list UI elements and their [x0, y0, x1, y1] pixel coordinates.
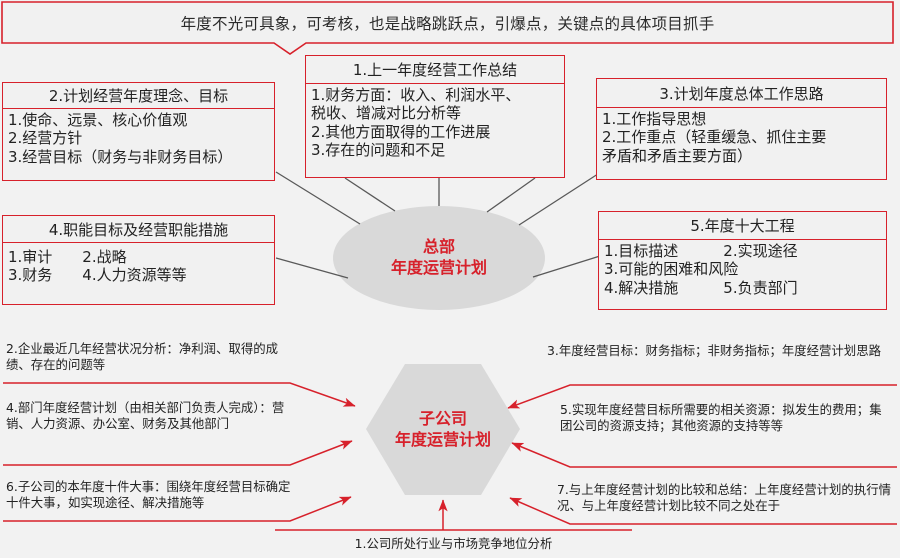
box-1-line: 1.财务方面：收入、利润水平、 — [311, 86, 559, 104]
box-1-body: 1.财务方面：收入、利润水平、 税收、增减对比分析等 2.其他方面取得的工作进展… — [306, 84, 564, 160]
box-4-line: 3.财务 4.人力资源等等 — [8, 266, 269, 284]
box-4-line: 1.审计 2.战略 — [8, 248, 269, 266]
box-3-header: 3.计划年度总体工作思路 — [597, 79, 886, 108]
subsidiary-node-label[interactable]: 子公司 年度运营计划 — [366, 364, 520, 495]
box-5-line: 3.可能的困难和风险 — [604, 260, 881, 278]
box-1-line: 2.其他方面取得的工作进展 — [311, 123, 559, 141]
box-2-line: 3.经营目标（财务与非财务目标） — [8, 148, 269, 166]
subsidiary-label-line2: 年度运营计划 — [395, 430, 491, 451]
box-1-header: 1.上一年度经营工作总结 — [306, 56, 564, 84]
box-4[interactable]: 4.职能目标及经营职能措施 1.审计 2.战略 3.财务 4.人力资源等等 — [2, 215, 275, 305]
box-2-body: 1.使命、远景、核心价值观 2.经营方针 3.经营目标（财务与非财务目标） — [3, 109, 274, 166]
box-1[interactable]: 1.上一年度经营工作总结 1.财务方面：收入、利润水平、 税收、增减对比分析等 … — [305, 55, 565, 178]
box-2-line: 1.使命、远景、核心价值观 — [8, 111, 269, 129]
sub-item-4[interactable]: 4.部门年度经营计划（由相关部门负责人完成）：营销、人力资源、办公室、财务及其他… — [6, 400, 291, 433]
box-4-body: 1.审计 2.战略 3.财务 4.人力资源等等 — [3, 243, 274, 285]
box-3-body: 1.工作指导思想 2.工作重点（轻重缓急、抓住主要 矛盾和矛盾主要方面） — [597, 108, 886, 165]
box-5-line: 1.目标描述 2.实现途径 — [604, 242, 881, 260]
subsidiary-label-line1: 子公司 — [419, 409, 467, 430]
sub-item-5[interactable]: 5.实现年度经营目标所需要的相关资源：拟发生的费用；集团公司的资源支持；其他资源… — [560, 402, 892, 435]
headquarters-label-line1: 总部 — [423, 237, 455, 258]
sub-item-2[interactable]: 2.企业最近几年经营状况分析：净利润、取得的成绩、存在的问题等 — [6, 341, 291, 374]
sub-item-6[interactable]: 6.子公司的本年度十件大事：围绕年度经营目标确定十件大事，如实现途径、解决措施等 — [6, 479, 291, 512]
box-5[interactable]: 5.年度十大工程 1.目标描述 2.实现途径 3.可能的困难和风险 4.解决措施… — [598, 211, 887, 310]
box-5-line: 4.解决措施 5.负责部门 — [604, 279, 881, 297]
box-2-line: 2.经营方针 — [8, 129, 269, 147]
sub-item-1[interactable]: 1.公司所处行业与市场竞争地位分析 — [275, 536, 632, 552]
sub-item-3[interactable]: 3.年度经营目标：财务指标；非财务指标；年度经营计划思路 — [547, 343, 892, 359]
box-3-line: 1.工作指导思想 — [602, 110, 881, 128]
sub-item-7[interactable]: 7.与上年度经营计划的比较和总结：上年度经营计划的执行情况、与上年度经营计划比较… — [557, 482, 897, 515]
banner-text: 年度不光可具象，可考核，也是战略跳跃点，引爆点，关键点的具体项目抓手 — [2, 2, 893, 43]
box-5-header: 5.年度十大工程 — [599, 212, 886, 240]
headquarters-node-label[interactable]: 总部 年度运营计划 — [333, 206, 545, 310]
headquarters-label-line2: 年度运营计划 — [391, 258, 487, 279]
box-3[interactable]: 3.计划年度总体工作思路 1.工作指导思想 2.工作重点（轻重缓急、抓住主要 矛… — [596, 78, 887, 180]
box-1-line: 税收、增减对比分析等 — [311, 104, 559, 122]
box-2[interactable]: 2.计划经营年度理念、目标 1.使命、远景、核心价值观 2.经营方针 3.经营目… — [2, 82, 275, 181]
box-3-line: 矛盾和矛盾主要方面） — [602, 147, 881, 165]
box-3-line: 2.工作重点（轻重缓急、抓住主要 — [602, 128, 881, 146]
box-1-line: 3.存在的问题和不足 — [311, 141, 559, 159]
box-2-header: 2.计划经营年度理念、目标 — [3, 83, 274, 109]
box-4-header: 4.职能目标及经营职能措施 — [3, 216, 274, 243]
diagram-canvas: 年度不光可具象，可考核，也是战略跳跃点，引爆点，关键点的具体项目抓手 1.上一年… — [0, 0, 900, 558]
box-5-body: 1.目标描述 2.实现途径 3.可能的困难和风险 4.解决措施 5.负责部门 — [599, 240, 886, 297]
